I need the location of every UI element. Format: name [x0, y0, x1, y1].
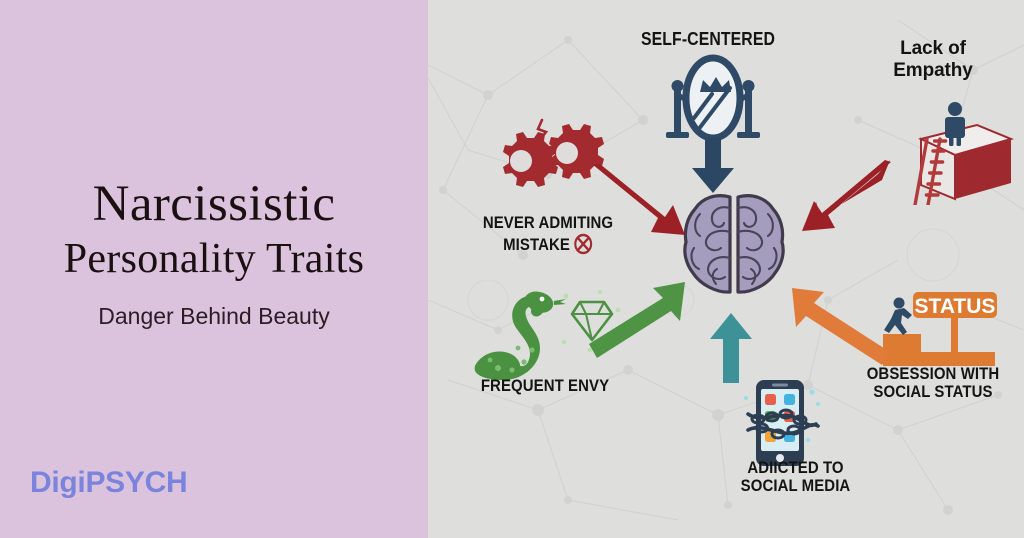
status-sign-stairs-icon: STATUS: [883, 288, 1023, 368]
trait-label-lack-of-empathy: Lack of Empathy: [848, 38, 1018, 83]
trait-label-addicted-to-social-media: ADIICTED TO SOCIAL MEDIA: [719, 459, 873, 496]
trait-addicted-to-social-media: [738, 378, 822, 468]
arrow-self-centered: [690, 138, 736, 194]
trait-label-obsession-with-social-status: OBSESSION WITH SOCIAL STATUS: [854, 365, 1012, 402]
trait-never-admitting-mistake: [476, 118, 606, 203]
trait-label-frequent-envy: FREQUENT ENVY: [461, 377, 628, 395]
page-title-line1: Narcissistic: [0, 175, 428, 233]
chained-smartphone-icon: [738, 378, 822, 468]
trait-lack-of-empathy: [893, 95, 1018, 205]
diagram-panel: SELF-CENTERED Lack of Empathy: [428, 0, 1024, 538]
person-on-pedestal-ladder-icon: [893, 95, 1018, 205]
page-subtitle: Danger Behind Beauty: [0, 301, 428, 331]
broken-gears-icon: [476, 118, 606, 203]
arrow-addicted-to-social-media: [708, 312, 754, 384]
brand-logo: DigiPSYCH: [30, 466, 187, 500]
trait-label-self-centered: SELF-CENTERED: [629, 30, 787, 49]
title-block: Narcissistic Personality Traits Danger B…: [0, 175, 428, 331]
arrow-lack-of-empathy: [794, 158, 894, 238]
arrow-never-admitting-mistake: [588, 162, 693, 242]
status-sign-text: STATUS: [915, 295, 996, 318]
brain-icon: [678, 190, 790, 300]
infographic-canvas: Narcissistic Personality Traits Danger B…: [0, 0, 1024, 538]
left-title-panel: Narcissistic Personality Traits Danger B…: [0, 0, 428, 538]
arrow-obsession-with-social-status: [786, 282, 896, 367]
page-title-line2: Personality Traits: [0, 233, 428, 285]
arrow-frequent-envy: [583, 278, 693, 363]
trait-obsession-with-social-status: STATUS: [883, 288, 1023, 368]
